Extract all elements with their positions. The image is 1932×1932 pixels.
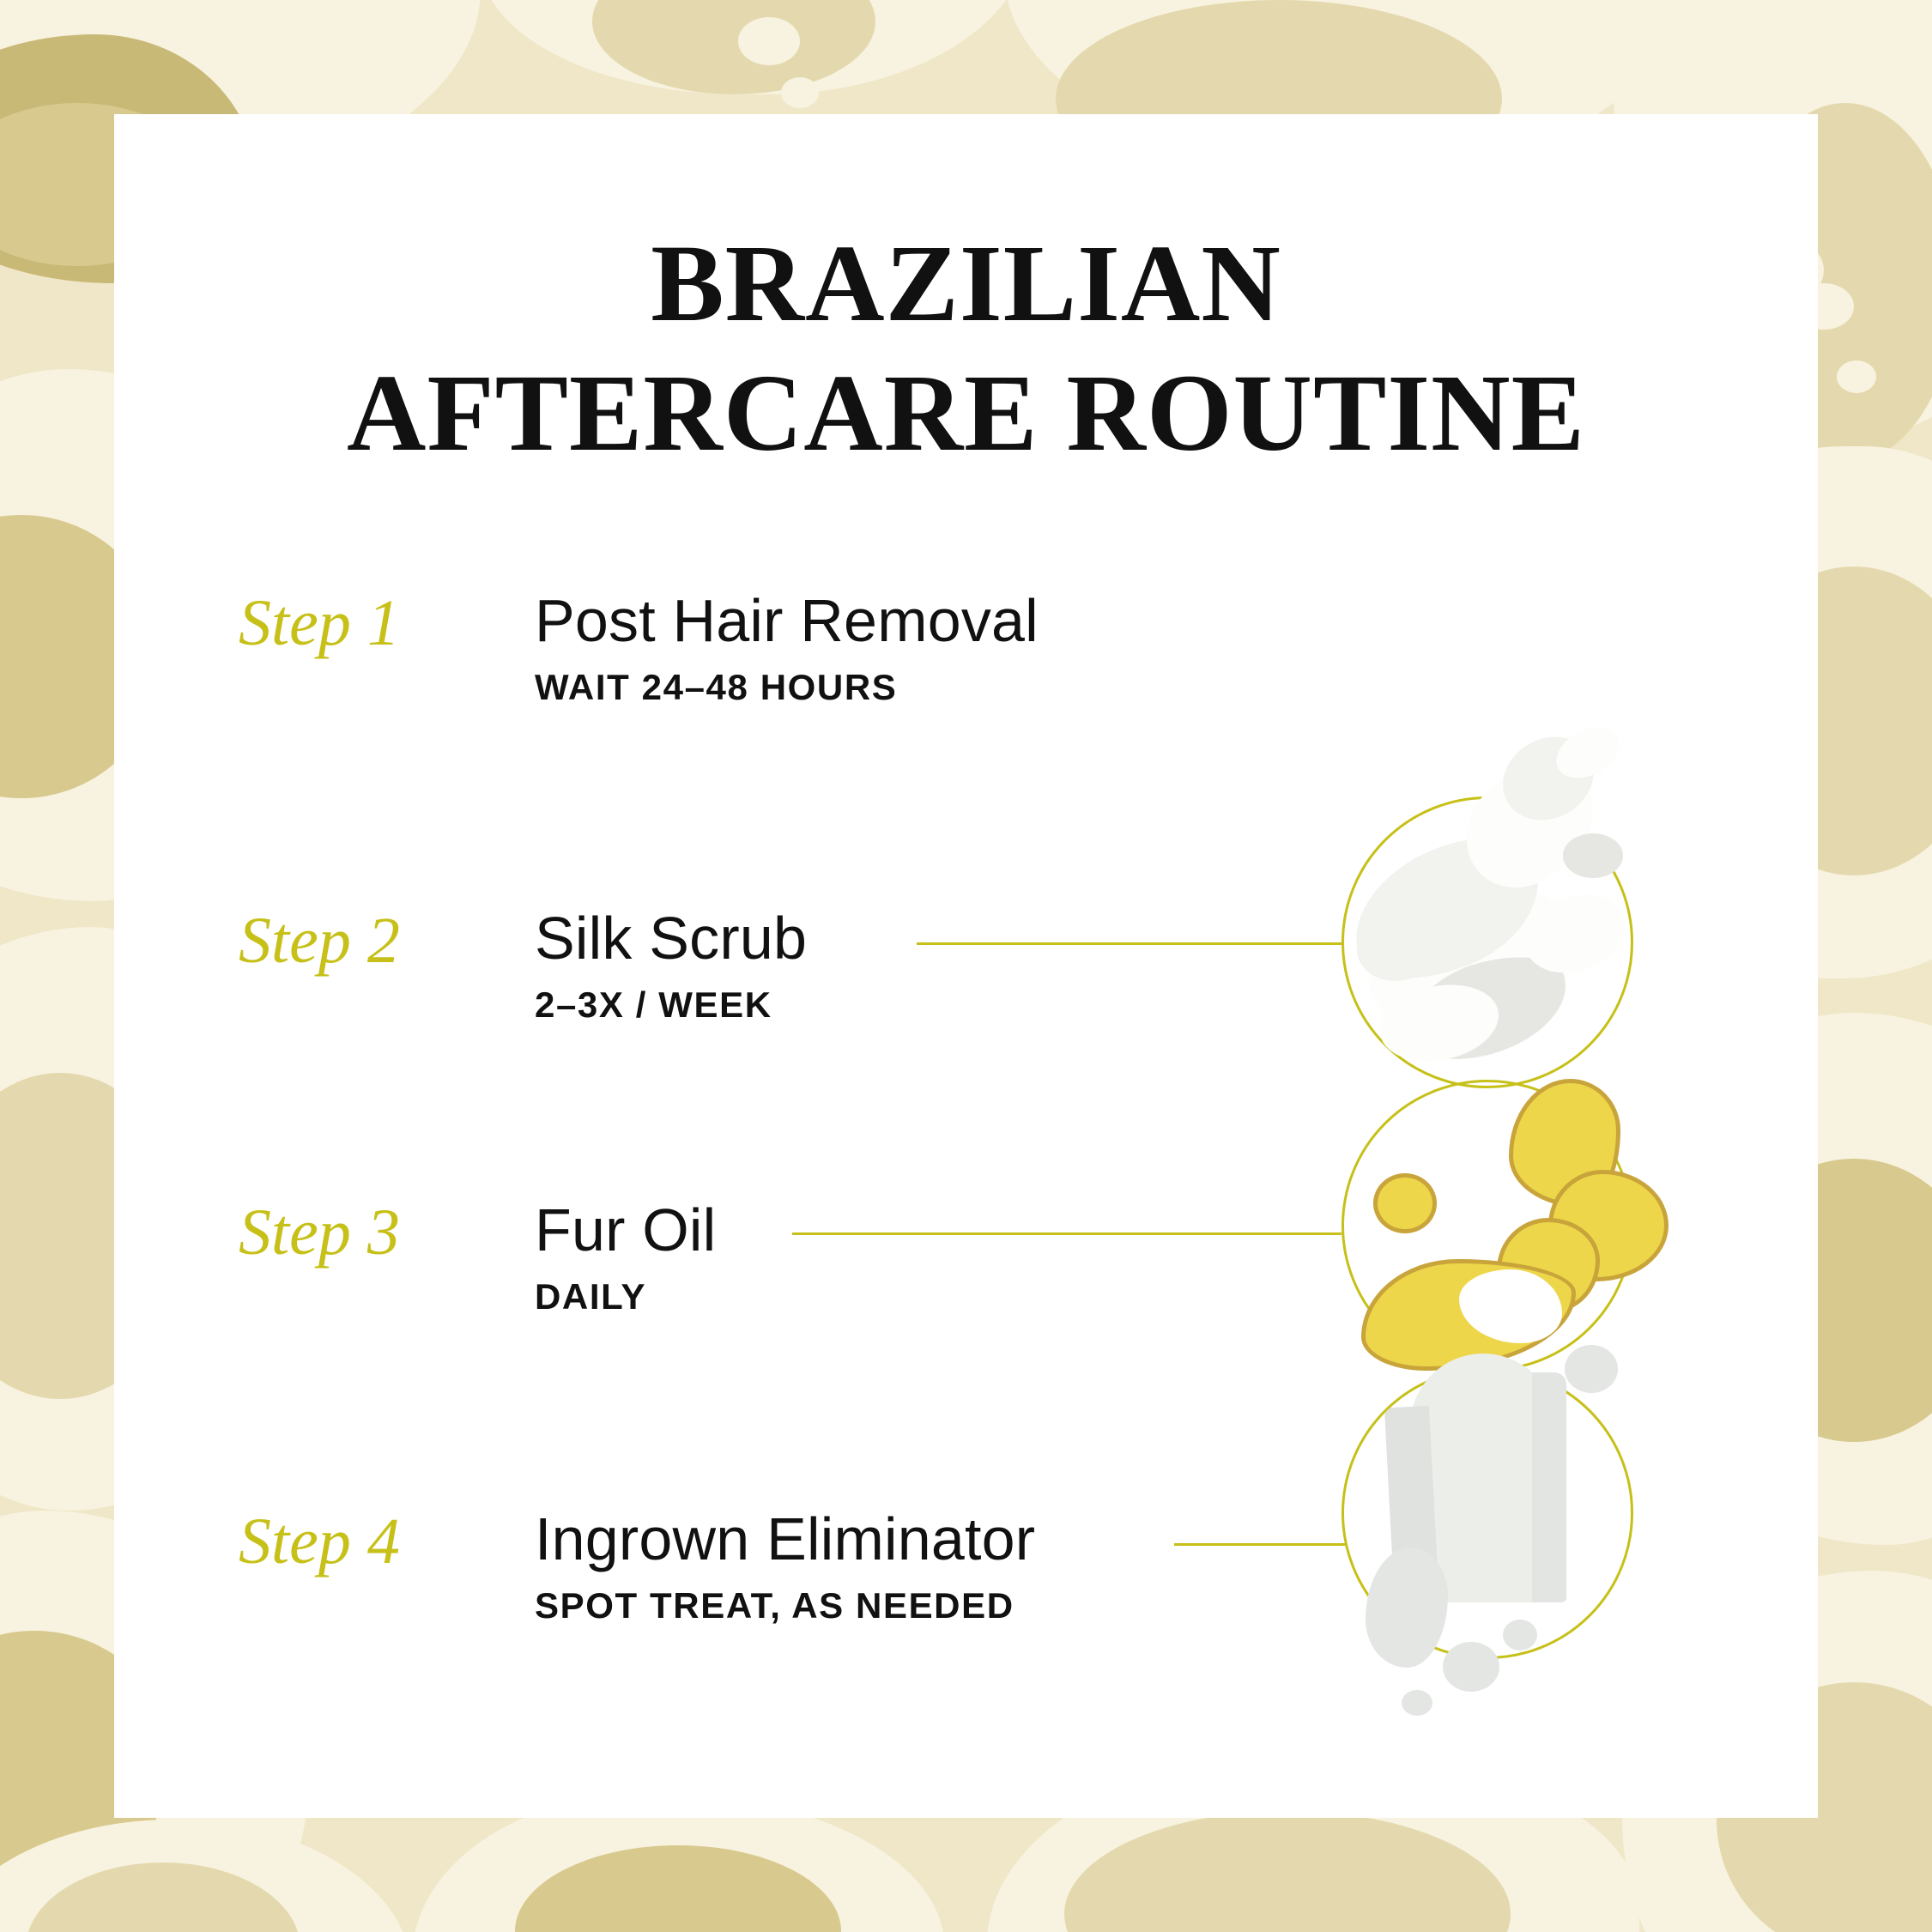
step-1-title: Post Hair Removal <box>535 586 1039 655</box>
step-2-label: Step 2 <box>239 904 479 978</box>
content-card: BRAZILIAN AFTERCARE ROUTINE Step 1 Post … <box>114 114 1818 1818</box>
step-4-label: Step 4 <box>239 1505 479 1579</box>
step-3-title: Fur Oil <box>535 1196 716 1264</box>
infographic-canvas: BRAZILIAN AFTERCARE ROUTINE Step 1 Post … <box>0 0 1932 1932</box>
step-1-subtitle: WAIT 24–48 HOURS <box>535 667 1039 708</box>
connector-line-step-2 <box>917 942 1341 945</box>
step-4-title: Ingrown Eliminator <box>535 1505 1035 1573</box>
step-2-title: Silk Scrub <box>535 904 807 972</box>
step-2-subtitle: 2–3X / WEEK <box>535 984 807 1026</box>
connector-line-step-3 <box>792 1232 1341 1235</box>
step-1-label: Step 1 <box>239 586 479 661</box>
pad-swatch <box>1316 1333 1668 1728</box>
step-3-subtitle: DAILY <box>535 1276 716 1317</box>
step-3-label: Step 3 <box>239 1196 479 1270</box>
step-4-subtitle: SPOT TREAT, AS NEEDED <box>535 1585 1035 1626</box>
